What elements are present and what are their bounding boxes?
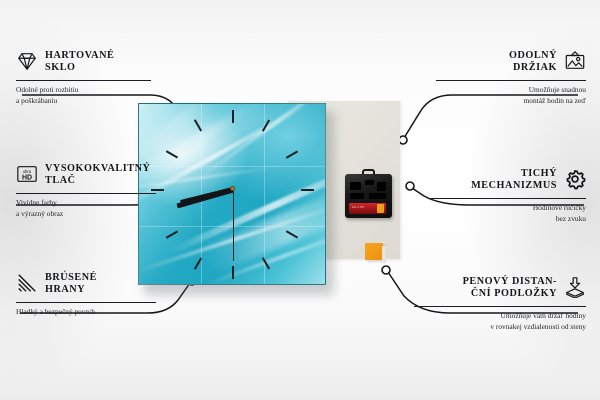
divider xyxy=(431,198,586,199)
foam-spacer-icon xyxy=(564,276,586,298)
divider xyxy=(16,302,156,303)
callout-desc: Umožňuje vám držať hodiny v rovnakej vzd… xyxy=(414,311,586,332)
infographic-stage: AA 1.5V HARTOVANÉ SKLO Odolné proti rozb… xyxy=(0,0,600,400)
callout-high-quality-print: ultra HD VYSOKOKVALITNÝ TLAČ Vivídne far… xyxy=(16,163,156,219)
connector-dot-4 xyxy=(399,136,407,144)
divider xyxy=(16,193,156,194)
picture-hanger-icon xyxy=(564,50,586,72)
mechanism-battery: AA 1.5V xyxy=(349,203,386,214)
divider xyxy=(436,80,586,81)
battery-label: AA 1.5V xyxy=(352,205,364,209)
mechanism-body: AA 1.5V xyxy=(345,174,392,218)
bevelled-edges-icon xyxy=(16,272,38,294)
callout-bevelled-edges: BRÚSENÉ HRANY Hladký a bezpečný povrch xyxy=(16,272,156,318)
diamond-icon xyxy=(16,50,38,72)
callout-desc: Odolné proti rozbitiu a poškrábaniu xyxy=(16,85,151,106)
svg-text:ultra: ultra xyxy=(23,169,32,174)
callout-foam-spacers: PENOVÝ DISTAN- ČNÍ PODLOŽKY Umožňuje vám… xyxy=(414,276,586,332)
callout-durable-hanger: ODOLNÝ DRŽIAK Umožňuje snadnou montáž ho… xyxy=(436,50,586,106)
callout-desc: Hladký a bezpečný povrch xyxy=(16,307,156,318)
divider xyxy=(414,306,586,307)
clock-face xyxy=(138,103,326,285)
divider xyxy=(16,80,151,81)
ultra-hd-icon: ultra HD xyxy=(16,163,38,185)
callout-title: PENOVÝ DISTAN- ČNÍ PODLOŽKY xyxy=(463,276,557,301)
gear-icon xyxy=(564,168,586,190)
callout-desc: Umožňuje snadnou montáž hodin na zeď xyxy=(436,85,586,106)
callout-title: TICHÝ MECHANIZMUS xyxy=(471,168,557,193)
connector-dot-5 xyxy=(406,182,414,190)
svg-text:HD: HD xyxy=(22,175,32,182)
callout-title: VYSOKOKVALITNÝ TLAČ xyxy=(45,163,150,188)
clock-mechanism: AA 1.5V xyxy=(345,174,392,218)
callout-title: BRÚSENÉ HRANY xyxy=(45,272,97,297)
callout-silent-mechanism: TICHÝ MECHANIZMUS Hodinové ručičky bez z… xyxy=(431,168,586,224)
callout-desc: Hodinové ručičky bez zvuku xyxy=(431,203,586,224)
callout-title: ODOLNÝ DRŽIAK xyxy=(509,50,557,75)
callout-title: HARTOVANÉ SKLO xyxy=(45,50,114,75)
callout-hardened-glass: HARTOVANÉ SKLO Odolné proti rozbitiu a p… xyxy=(16,50,151,106)
foam-spacer-pad xyxy=(365,243,383,260)
callout-desc: Vivídne farby a výrazný obraz xyxy=(16,198,156,219)
